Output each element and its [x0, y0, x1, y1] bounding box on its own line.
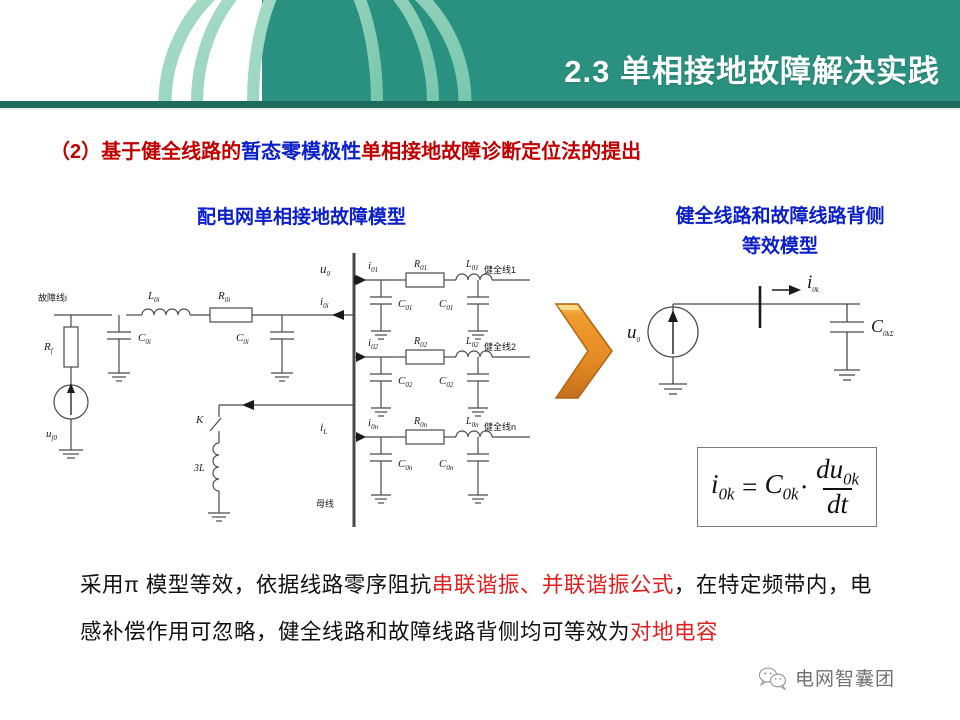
slide: 2.3 单相接地故障解决实践 （2）基于健全线路的暂态零模极性单相接地故障诊断定…: [0, 0, 960, 720]
branch1-resistance-label: R01: [413, 259, 427, 272]
fault-current-label: i0i: [320, 296, 329, 310]
branchn-current-label: i0n: [368, 417, 379, 431]
branch1-inductance-label: L01: [465, 259, 479, 272]
section-subtitle: （2）基于健全线路的暂态零模极性单相接地故障诊断定位法的提出: [50, 135, 641, 164]
branch2-cap1-label: C02: [398, 375, 413, 389]
branch1-name-label: 健全线1: [484, 264, 516, 275]
equivalent-model-diagram: u0 i0k C0kΣ: [615, 262, 945, 422]
branch2-inductance-label: L02: [465, 336, 479, 349]
feeder-inductance-label: L0i: [147, 290, 160, 304]
watermark: 电网智囊团: [758, 664, 895, 691]
chevron-right-arrow-icon: [548, 296, 620, 406]
branchn-name-label: 健全线n: [484, 421, 516, 432]
formula-fraction: du0k dt: [812, 455, 863, 520]
branch2-current-label: i02: [368, 337, 379, 351]
feeder-cap-left-label: C0i: [138, 332, 151, 346]
right-diagram-title-line1: 健全线路和故障线路背侧: [630, 202, 930, 232]
formula-denominator: dt: [823, 488, 852, 520]
formula-box: i0k = C0k · du0k dt: [697, 447, 877, 527]
fault-line-label: 故障线i: [38, 292, 67, 303]
branch1-cap1-label: C01: [398, 298, 412, 312]
formula-numerator: du0k: [812, 455, 863, 488]
paragraph-line2-highlight: 对地电容: [630, 620, 718, 644]
branch-current-label: i0k: [807, 272, 820, 294]
wechat-icon: [758, 666, 788, 690]
left-diagram-title: 配电网单相接地故障模型: [197, 202, 406, 229]
formula-coefficient: C0k: [765, 469, 799, 504]
coil-current-label: iL: [320, 420, 327, 436]
slide-header: 2.3 单相接地故障解决实践: [0, 0, 960, 101]
subtitle-prefix: （2）基于健全线路的: [50, 141, 241, 163]
right-diagram-title-line2: 等效模型: [630, 232, 930, 262]
branchn-inductance-label: L0n: [465, 416, 479, 429]
fault-resistance-label: Rf: [43, 341, 54, 355]
equivalent-capacitance-label: C0kΣ: [871, 316, 895, 338]
subtitle-suffix: 单相接地故障诊断定位法的提出: [361, 141, 641, 163]
bus-voltage-label: u0: [320, 261, 331, 278]
switch-label: K: [195, 414, 204, 426]
formula-lhs: i0k: [711, 469, 734, 504]
paragraph-line1-b: ，在特定频带: [674, 573, 806, 597]
body-paragraph: 采用π 模型等效，依据线路零序阻抗串联谐振、并联谐振公式，在特定频带内，电感补偿…: [80, 562, 890, 656]
branchn-resistance-label: R0n: [413, 416, 428, 429]
subtitle-highlight: 暂态零模极性: [241, 141, 361, 163]
header-divider-light: [0, 108, 960, 110]
header-divider: [0, 101, 960, 108]
paragraph-line1-a: 采用π 模型等效，依据线路零序阻抗: [80, 573, 432, 597]
branchn-cap2-label: C0n: [439, 458, 454, 472]
watermark-text: 电网智囊团: [795, 664, 895, 691]
branch1-current-label: i01: [368, 260, 378, 274]
feeder-cap-right-label: C0i: [236, 332, 249, 346]
branchn-cap1-label: C0n: [398, 458, 413, 472]
feeder-resistance-label: R0i: [217, 290, 230, 304]
branch2-name-label: 健全线2: [484, 341, 516, 352]
right-diagram-title: 健全线路和故障线路背侧 等效模型: [630, 202, 930, 262]
fault-source-label: uf0: [46, 428, 57, 442]
distribution-network-fault-model-diagram: 故障线i Rf uf0 L0i R0i C0i C0i u0 i0i iL K …: [14, 245, 534, 535]
formula-equals: =: [740, 472, 758, 503]
page-title: 2.3 单相接地故障解决实践: [564, 46, 940, 91]
coil-label: 3L: [193, 463, 205, 474]
branch2-resistance-label: R02: [413, 336, 428, 349]
paragraph-line1-highlight: 串联谐振、并联谐振公式: [432, 573, 674, 597]
branch1-cap2-label: C01: [439, 298, 453, 312]
source-voltage-label: u0: [627, 322, 641, 344]
formula-dot: ·: [800, 472, 807, 503]
capacitive-current-formula: i0k = C0k · du0k dt: [698, 448, 876, 526]
busbar-label: 母线: [316, 498, 334, 509]
branch2-cap2-label: C02: [439, 375, 454, 389]
